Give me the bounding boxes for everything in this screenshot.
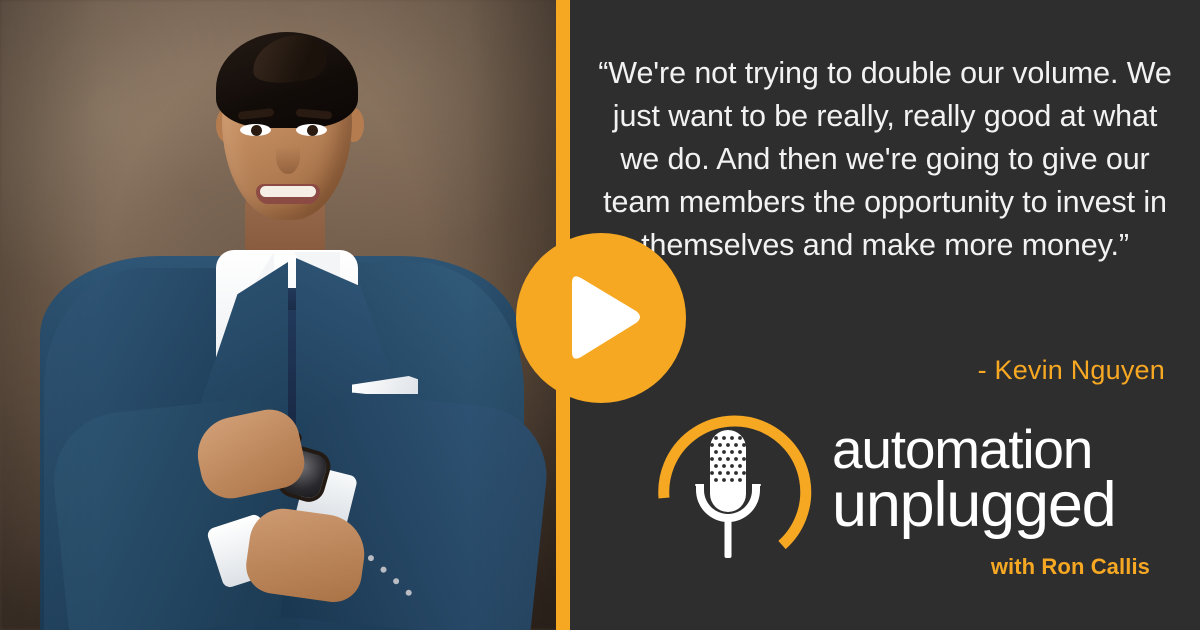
play-triangle-icon — [562, 273, 644, 363]
logo-wordmark: automation unplugged — [832, 424, 1150, 535]
quote-text: “We're not trying to double our volume. … — [595, 52, 1175, 267]
eye-left — [240, 124, 271, 136]
podcast-quote-card: “We're not trying to double our volume. … — [0, 0, 1200, 630]
guest-portrait — [0, 0, 558, 630]
logo-word-unplugged: unplugged — [832, 477, 1150, 535]
eye-right — [296, 124, 327, 136]
logo-word-automation: automation — [832, 424, 1150, 475]
play-button[interactable] — [516, 233, 686, 403]
smile — [256, 184, 320, 204]
guest-photo — [0, 0, 558, 630]
nose — [276, 140, 300, 174]
podcast-logo: automation unplugged with Ron Callis — [650, 412, 1150, 592]
quote-attribution: - Kevin Nguyen — [595, 355, 1165, 386]
microphone-icon — [650, 412, 820, 572]
logo-host-line: with Ron Callis — [991, 554, 1150, 580]
